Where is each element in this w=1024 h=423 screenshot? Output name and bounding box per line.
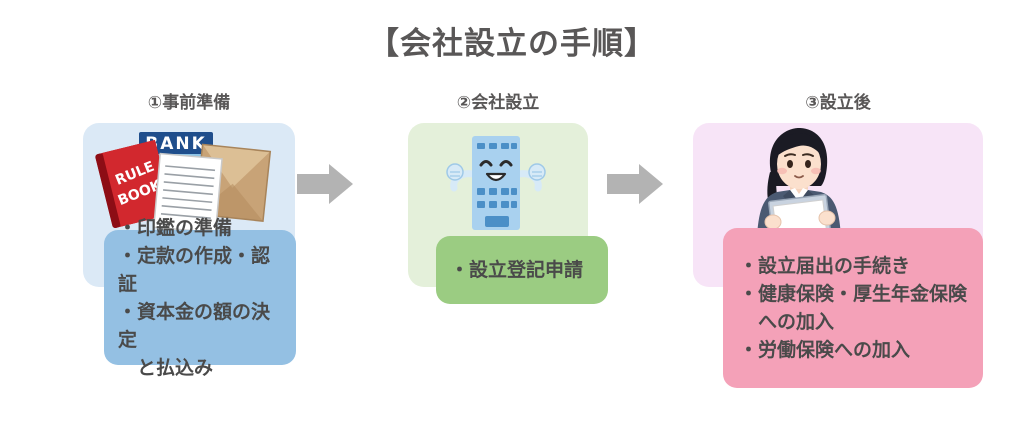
company-building-character-illustration [440, 132, 552, 236]
step-2-item-list: ・設立登記申請 [450, 256, 594, 284]
face-icon [777, 133, 822, 189]
step-content-box-3: ・設立届出の手続き ・健康保険・厚生年金保険 への加入 ・労働保険への加入 [723, 228, 983, 388]
list-item: ・健康保険・厚生年金保険 への加入 [739, 280, 967, 336]
arrow-step2-to-step3 [607, 162, 663, 206]
list-item: ・資本金の額の決定 と払込み [118, 298, 282, 382]
step-content-box-2: ・設立登記申請 [436, 236, 608, 304]
businesswoman-illustration [737, 126, 857, 236]
step-1-item-list: ・印鑑の準備 ・定款の作成・認証 ・資本金の額の決定 と払込み [118, 214, 282, 382]
page-title: 【会社設立の手順】 [0, 18, 1024, 63]
step-heading-2: ②会社設立 [408, 88, 588, 113]
building-character-icon [472, 136, 520, 230]
step-heading-1: ①事前準備 [83, 88, 295, 113]
list-item: ・設立届出の手続き [739, 252, 967, 280]
list-item: ・労働保険への加入 [739, 336, 967, 364]
arrow-step1-to-step2 [297, 162, 353, 206]
step-3-item-list: ・設立届出の手続き ・健康保険・厚生年金保険 への加入 ・労働保険への加入 [739, 252, 967, 364]
step-content-box-1: ・印鑑の準備 ・定款の作成・認証 ・資本金の額の決定 と払込み [104, 230, 296, 365]
list-item: ・定款の作成・認証 [118, 242, 282, 298]
step-heading-3: ③設立後 [693, 88, 983, 113]
list-item: ・設立登記申請 [450, 256, 594, 284]
list-item: ・印鑑の準備 [118, 214, 282, 242]
